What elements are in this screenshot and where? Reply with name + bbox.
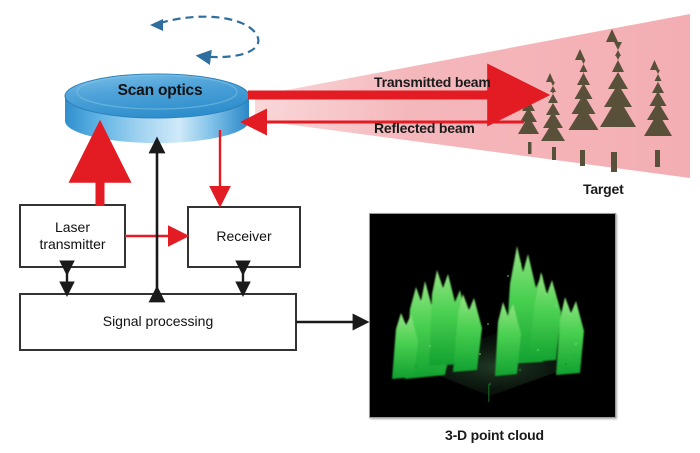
point-cloud-render <box>370 214 615 417</box>
receiver-box[interactable] <box>188 207 300 267</box>
figure-canvas: Scan optics Transmitted beam Reflected b… <box>0 0 700 453</box>
scan-rotation-arrow-head <box>150 19 163 31</box>
reflected-beam-label: Reflected beam <box>374 120 475 136</box>
point-cloud-panel <box>369 213 616 418</box>
laser-transmitter-box[interactable] <box>20 205 125 267</box>
target-label: Target <box>583 181 624 197</box>
signal-processing-box[interactable] <box>20 294 296 350</box>
scan-rotation-arrow <box>160 17 258 57</box>
transmitted-beam-label: Transmitted beam <box>374 74 491 90</box>
scan-optics-label: Scan optics <box>90 82 230 100</box>
point-cloud-label: 3-D point cloud <box>445 427 544 443</box>
